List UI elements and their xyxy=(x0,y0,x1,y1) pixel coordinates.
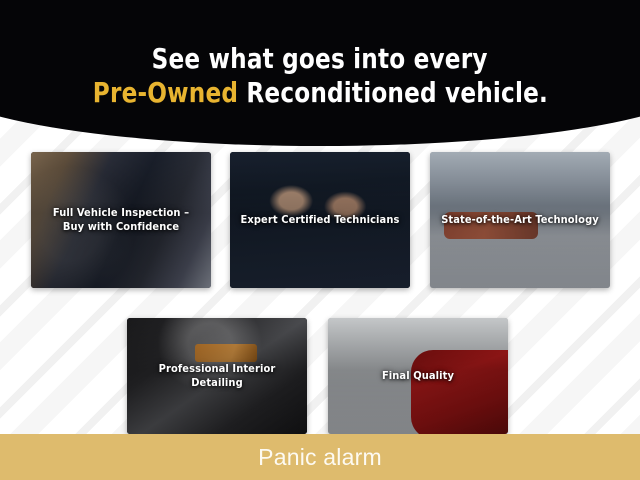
header-banner: See what goes into every Pre-Owned Recon… xyxy=(0,0,640,146)
headline-accent-text: Pre-Owned xyxy=(92,76,237,109)
card-expert-certified-technicians[interactable]: Expert Certified Technicians xyxy=(230,152,410,288)
headline-line-2-rest: Reconditioned vehicle. xyxy=(238,76,548,109)
card-full-vehicle-inspection[interactable]: Full Vehicle Inspection – Buy with Confi… xyxy=(31,152,211,288)
card-caption-final-quality: Final Quality xyxy=(328,369,508,383)
card-caption-expert-certified-technicians: Expert Certified Technicians xyxy=(230,213,410,227)
card-caption-full-vehicle-inspection: Full Vehicle Inspection – Buy with Confi… xyxy=(31,206,211,234)
footer-bar: Panic alarm xyxy=(0,434,640,480)
card-final-quality[interactable]: Final Quality xyxy=(328,318,508,434)
card-caption-professional-interior-detailing: Professional Interior Detailing xyxy=(127,362,307,390)
card-state-of-the-art-technology[interactable]: State-of-the-Art Technology xyxy=(430,152,610,288)
card-professional-interior-detailing[interactable]: Professional Interior Detailing xyxy=(127,318,307,434)
promo-slide: See what goes into every Pre-Owned Recon… xyxy=(0,0,640,480)
footer-label: Panic alarm xyxy=(258,444,382,471)
headline-line-1: See what goes into every xyxy=(152,42,488,76)
header-content: See what goes into every Pre-Owned Recon… xyxy=(0,0,640,146)
card-caption-state-of-the-art-technology: State-of-the-Art Technology xyxy=(430,213,610,227)
headline-line-2: Pre-Owned Reconditioned vehicle. xyxy=(92,76,547,110)
